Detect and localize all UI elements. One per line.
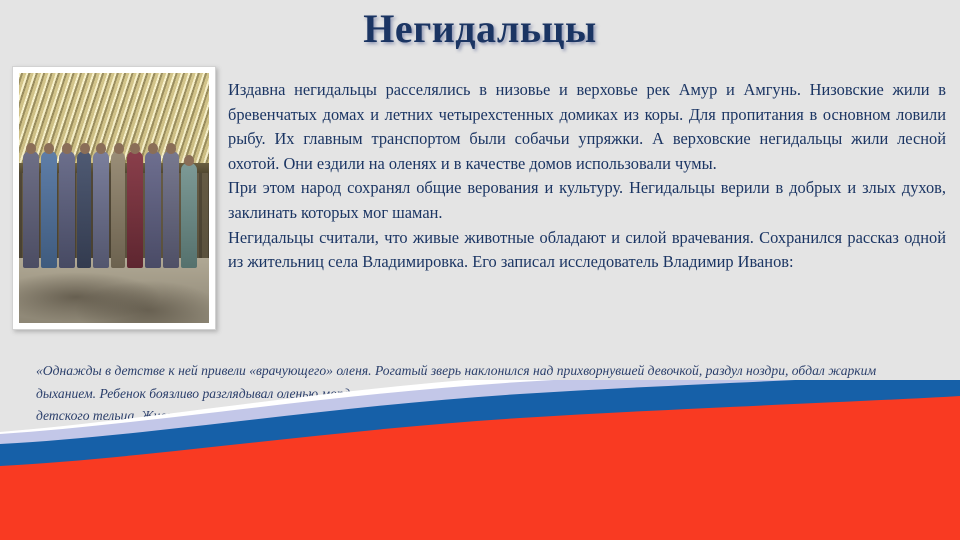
photo-figure	[163, 151, 179, 269]
pull-quote: «Однажды в детстве к ней привели «врачую…	[36, 360, 938, 428]
photo-figure	[41, 151, 57, 269]
photo-figure	[111, 151, 125, 269]
photo-figure	[127, 151, 143, 269]
body-text: Издавна негидальцы расселялись в низовье…	[228, 78, 946, 275]
page-title: Негидальцы	[0, 8, 960, 50]
photo-figure	[77, 151, 91, 269]
slide-canvas: Негидальцы Издавна негидальцы расселялис…	[0, 0, 960, 540]
photo-frame	[12, 66, 216, 330]
photo-figure	[59, 151, 75, 269]
photo-figure	[23, 151, 39, 269]
photo-figure	[93, 151, 109, 269]
body-paragraph: Негидальцы считали, что живые животные о…	[228, 226, 946, 275]
photo-figure	[181, 163, 197, 268]
historical-photo	[19, 73, 209, 323]
body-paragraph: Издавна негидальцы расселялись в низовье…	[228, 78, 946, 176]
photo-figure	[145, 151, 161, 269]
body-paragraph: При этом народ сохранял общие верования …	[228, 176, 946, 225]
